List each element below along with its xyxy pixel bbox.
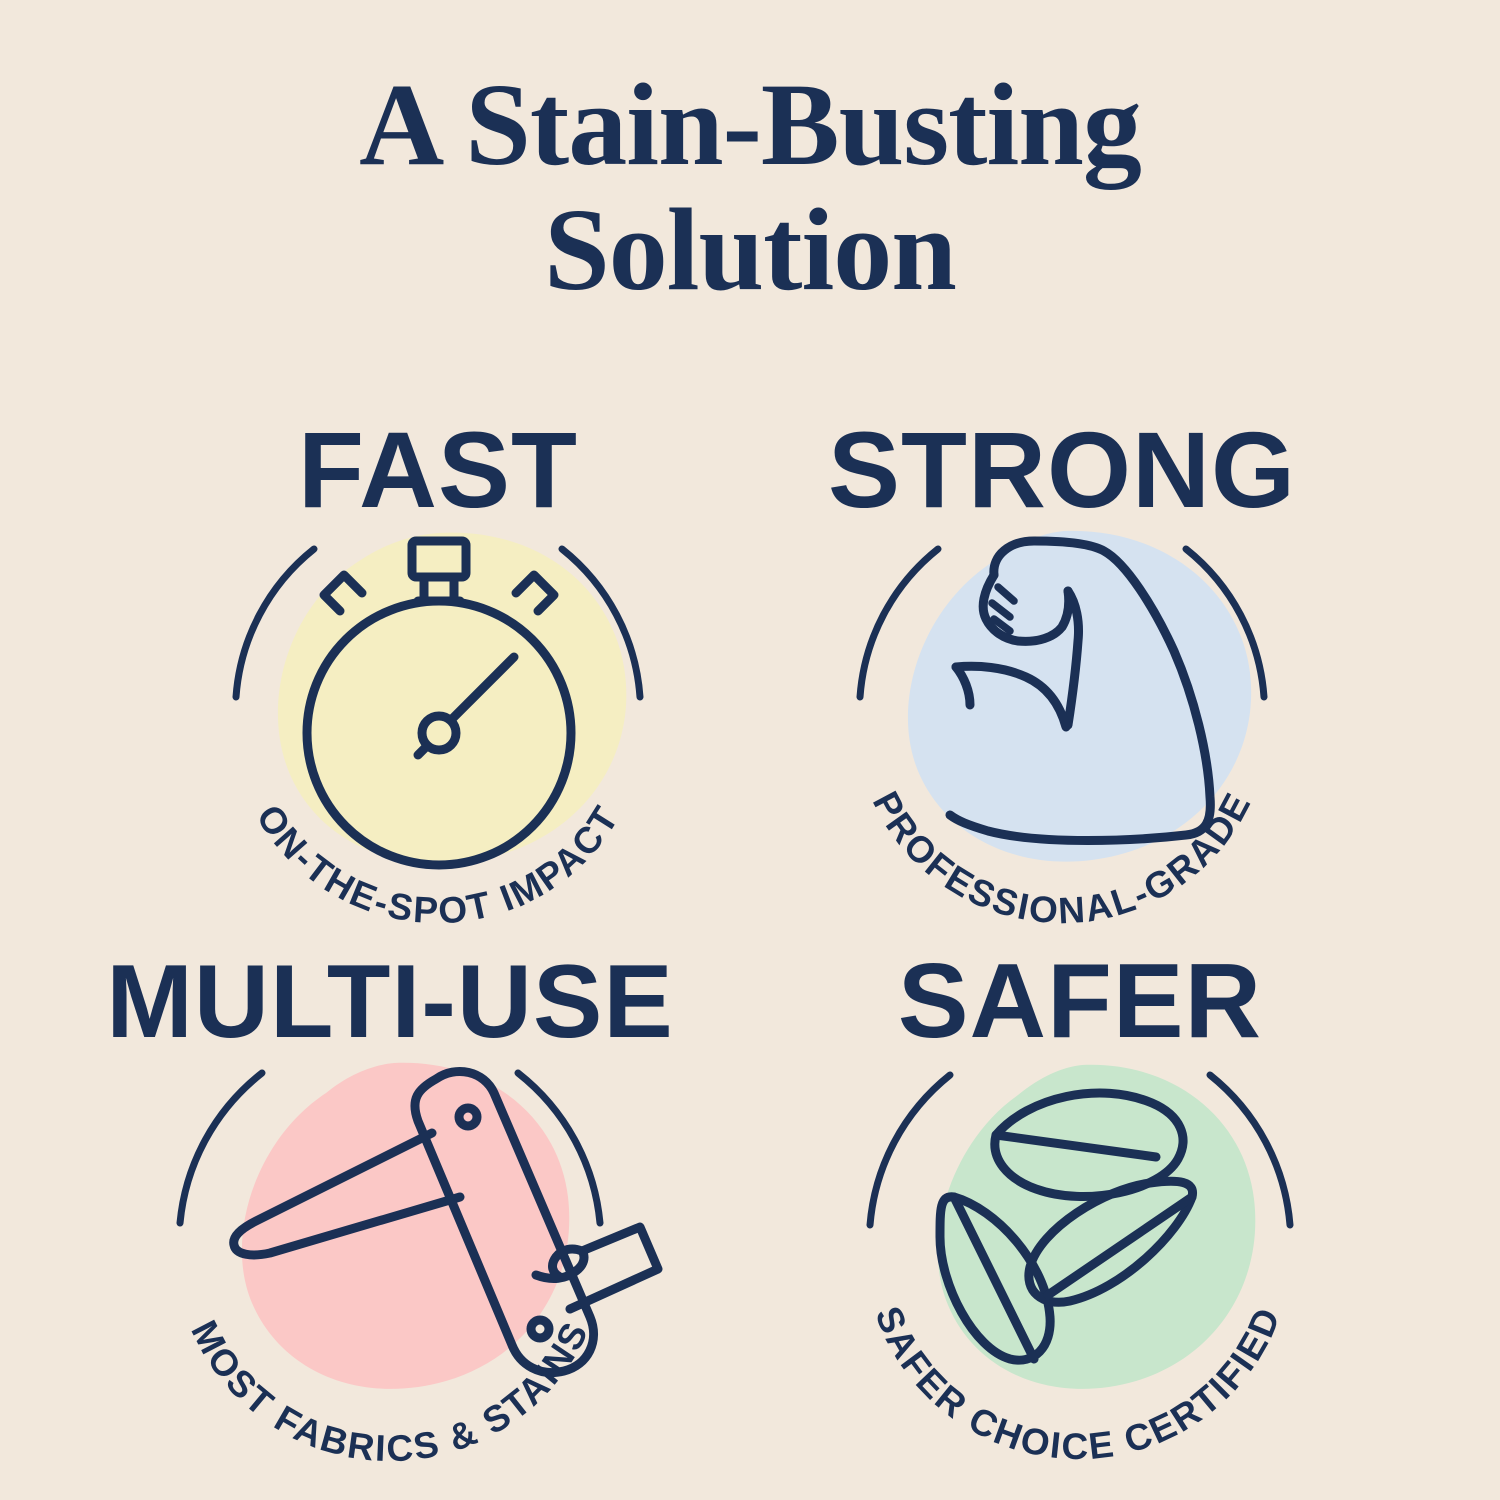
badge-strong: STRONG bbox=[742, 415, 1382, 945]
badge-multi-use: MULTI-USE MOS bbox=[70, 945, 710, 1475]
blob-blue bbox=[908, 531, 1251, 862]
blob-pink bbox=[242, 1063, 569, 1389]
badge-headline-multi-use: MULTI-USE bbox=[106, 945, 673, 1060]
badge-safer: SAFER SAFER CHOICE CERTI bbox=[760, 945, 1400, 1475]
badge-headline-safer: SAFER bbox=[898, 945, 1262, 1060]
arc-guide-left bbox=[870, 1075, 950, 1225]
badge-headline-fast: FAST bbox=[298, 415, 578, 530]
benefit-badge-grid: FAST O bbox=[0, 415, 1500, 1475]
page-title: A Stain-Busting Solution bbox=[0, 62, 1500, 312]
badge-fast: FAST O bbox=[118, 415, 758, 945]
infographic-page: A Stain-Busting Solution FAST bbox=[0, 0, 1500, 1500]
title-line-1: A Stain-Busting bbox=[0, 62, 1500, 187]
badge-headline-strong: STRONG bbox=[828, 415, 1296, 530]
title-line-2: Solution bbox=[0, 187, 1500, 312]
